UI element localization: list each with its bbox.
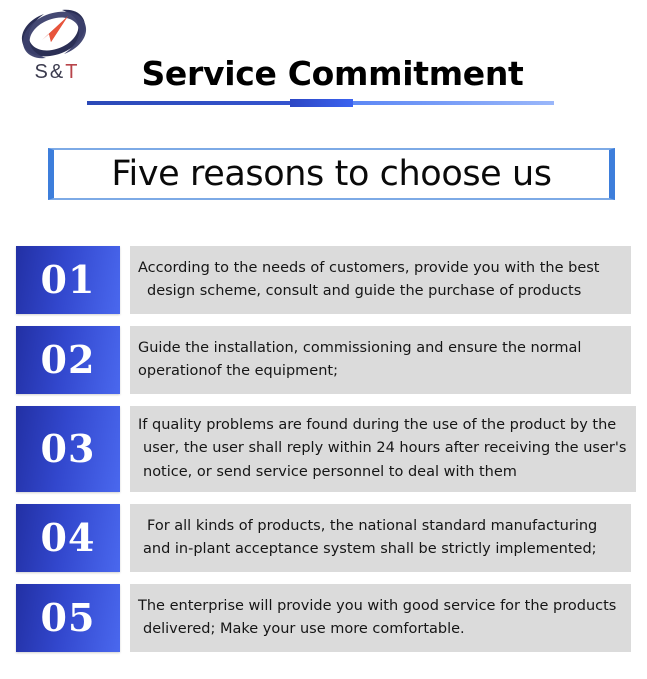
reason-text-line: delivered; Make your use more comfortabl… — [138, 618, 621, 641]
reason-number-badge: 04 — [16, 504, 120, 572]
reason-text-line: For all kinds of products, the national … — [138, 515, 621, 538]
reason-text-panel: For all kinds of products, the national … — [130, 504, 631, 572]
list-item: 02 Guide the installation, commissioning… — [0, 326, 647, 394]
title-rule-left-segment — [87, 101, 290, 105]
list-item: 03 If quality problems are found during … — [0, 406, 647, 492]
reason-number: 02 — [41, 341, 96, 379]
reason-number-badge: 03 — [16, 406, 120, 492]
reason-text-line: According to the needs of customers, pro… — [138, 257, 621, 280]
reason-text-line: and in-plant acceptance system shall be … — [138, 538, 621, 561]
page-title: Service Commitment — [0, 57, 647, 90]
reason-text-panel: According to the needs of customers, pro… — [130, 246, 631, 314]
list-item: 04 For all kinds of products, the nation… — [0, 504, 647, 572]
reason-text-line: If quality problems are found during the… — [138, 414, 626, 437]
title-rule-middle-segment — [290, 99, 353, 107]
page-header: S&T Service Commitment — [0, 0, 647, 130]
compass-orbit-logo-icon — [18, 4, 90, 64]
reason-text-line: design scheme, consult and guide the pur… — [138, 280, 621, 303]
reason-text-line: Guide the installation, commissioning an… — [138, 337, 621, 360]
list-item: 01 According to the needs of customers, … — [0, 246, 647, 314]
subtitle-banner: Five reasons to choose us — [48, 148, 615, 200]
reasons-list: 01 According to the needs of customers, … — [0, 246, 647, 664]
reason-text-line: user, the user shall reply within 24 hou… — [138, 437, 626, 460]
title-underline-rule — [87, 99, 554, 107]
list-item: 05 The enterprise will provide you with … — [0, 584, 647, 652]
reason-number: 05 — [41, 599, 96, 637]
reason-text-line: The enterprise will provide you with goo… — [138, 595, 621, 618]
reason-text-line: notice, or send service personnel to dea… — [138, 461, 626, 484]
reason-text-line: operationof the equipment; — [138, 360, 621, 383]
reason-number-badge: 01 — [16, 246, 120, 314]
reason-number-badge: 02 — [16, 326, 120, 394]
subtitle-text: Five reasons to choose us — [111, 157, 551, 192]
reason-number: 03 — [41, 430, 96, 468]
reason-number: 01 — [41, 261, 96, 299]
title-rule-right-segment — [353, 101, 554, 105]
reason-text-panel: Guide the installation, commissioning an… — [130, 326, 631, 394]
reason-text-panel: The enterprise will provide you with goo… — [130, 584, 631, 652]
reason-text-panel: If quality problems are found during the… — [130, 406, 636, 492]
reason-number-badge: 05 — [16, 584, 120, 652]
reason-number: 04 — [41, 519, 96, 557]
